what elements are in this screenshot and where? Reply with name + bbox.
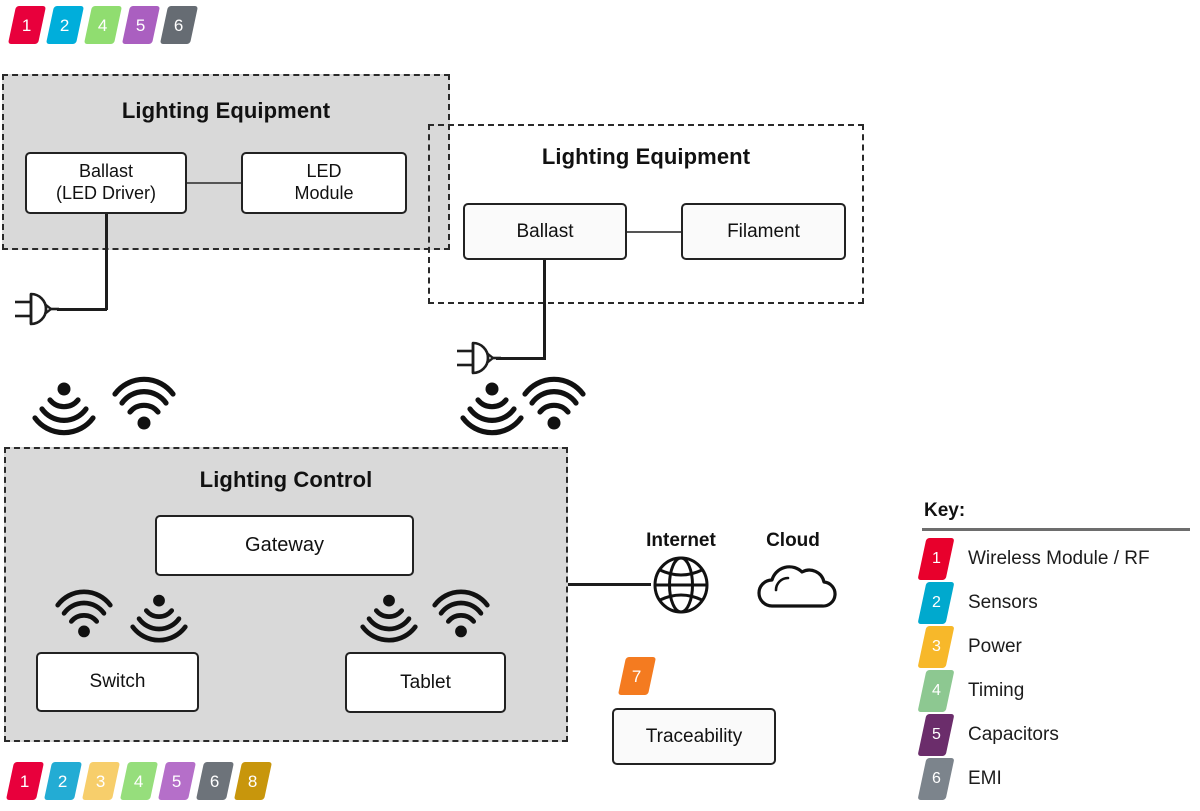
key-label-6: EMI	[968, 768, 1002, 790]
node-gateway[interactable]: Gateway	[155, 515, 414, 576]
internet-label: Internet	[628, 530, 734, 552]
key-item-3: 3Power	[922, 625, 1190, 669]
key-item-list: 1Wireless Module / RF2Sensors3Power4Timi…	[922, 537, 1190, 801]
badge-1: 1	[8, 6, 46, 44]
badge-number: 4	[98, 17, 107, 34]
badge-1: 1	[6, 762, 44, 800]
key-badge-number: 1	[932, 551, 941, 567]
filament-label: Filament	[727, 220, 800, 243]
key-item-6: 6EMI	[922, 757, 1190, 801]
badge-6: 6	[160, 6, 198, 44]
key-legend-panel: Key: 1Wireless Module / RF2Sensors3Power…	[922, 500, 1190, 801]
top-badge-row: 12456	[12, 6, 202, 44]
badge-number: 2	[58, 773, 67, 790]
power-cable-vertical-1	[105, 214, 108, 310]
node-ballast[interactable]: Ballast	[463, 203, 627, 260]
link-ballast-to-filament	[627, 231, 681, 233]
bottom-badge-row: 1234568	[10, 762, 276, 800]
badge-3: 3	[82, 762, 120, 800]
key-badge-5: 5	[918, 714, 955, 756]
key-badge-3: 3	[918, 626, 955, 668]
link-ballast-to-led-module	[187, 182, 241, 184]
power-plug-icon-2	[455, 337, 507, 379]
badge-6: 6	[196, 762, 234, 800]
lighting-equipment-1-title: Lighting Equipment	[4, 98, 448, 124]
key-badge-2: 2	[918, 582, 955, 624]
key-badge-number: 4	[932, 683, 941, 699]
key-badge-6: 6	[918, 758, 955, 800]
diagram-canvas: 12456 Lighting Equipment Ballast (LED Dr…	[0, 0, 1200, 811]
tablet-label: Tablet	[400, 671, 451, 694]
badge-7: 7	[618, 657, 656, 695]
ballast-label-line1: Ballast	[56, 161, 156, 183]
node-led-module[interactable]: LED Module	[241, 152, 407, 214]
badge-number: 5	[172, 773, 181, 790]
gateway-label: Gateway	[245, 533, 324, 557]
led-module-label-line2: Module	[294, 183, 353, 205]
key-label-3: Power	[968, 636, 1022, 658]
badge-number: 1	[20, 773, 29, 790]
led-module-label-line1: LED	[294, 161, 353, 183]
globe-icon	[650, 556, 712, 614]
node-tablet[interactable]: Tablet	[345, 652, 506, 713]
key-divider	[922, 528, 1190, 531]
ballast-2-label: Ballast	[516, 220, 573, 243]
badge-number: 3	[96, 773, 105, 790]
badge-number: 6	[210, 773, 219, 790]
wireless-signal-up-icon-2	[522, 380, 586, 432]
wireless-signal-down-icon-2	[460, 380, 524, 432]
badge-8: 8	[234, 762, 272, 800]
wireless-signal-down-icon-1	[32, 380, 96, 432]
power-cable-vertical-2	[543, 260, 546, 360]
key-label-4: Timing	[968, 680, 1024, 702]
badge-2: 2	[46, 6, 84, 44]
lighting-equipment-2-title: Lighting Equipment	[430, 144, 862, 170]
badge-number: 5	[136, 17, 145, 34]
traceability-label: Traceability	[646, 725, 742, 748]
lighting-control-title: Lighting Control	[6, 467, 566, 493]
traceability-badge: 7	[622, 657, 652, 695]
badge-5: 5	[158, 762, 196, 800]
node-ballast-led-driver[interactable]: Ballast (LED Driver)	[25, 152, 187, 214]
key-badge-number: 5	[932, 727, 941, 743]
key-item-2: 2Sensors	[922, 581, 1190, 625]
key-label-1: Wireless Module / RF	[968, 548, 1150, 570]
key-item-1: 1Wireless Module / RF	[922, 537, 1190, 581]
key-title: Key:	[924, 500, 1190, 522]
key-label-5: Capacitors	[968, 724, 1059, 746]
badge-4: 4	[120, 762, 158, 800]
badge-number: 7	[632, 668, 641, 685]
key-badge-1: 1	[918, 538, 955, 580]
key-badge-number: 3	[932, 639, 941, 655]
wireless-signal-down-icon-switch	[130, 592, 188, 640]
badge-5: 5	[122, 6, 160, 44]
key-badge-4: 4	[918, 670, 955, 712]
key-badge-number: 2	[932, 595, 941, 611]
cloud-label: Cloud	[740, 530, 846, 552]
key-item-4: 4Timing	[922, 669, 1190, 713]
node-switch[interactable]: Switch	[36, 652, 199, 712]
ballast-label-line2: (LED Driver)	[56, 183, 156, 205]
badge-4: 4	[84, 6, 122, 44]
badge-2: 2	[44, 762, 82, 800]
power-plug-icon-1	[13, 288, 65, 330]
link-control-to-internet	[568, 583, 651, 586]
node-traceability[interactable]: Traceability	[612, 708, 776, 765]
wireless-signal-up-icon-1	[112, 380, 176, 432]
key-badge-number: 6	[932, 771, 941, 787]
wireless-signal-down-icon-tablet	[360, 592, 418, 640]
badge-number: 2	[60, 17, 69, 34]
badge-number: 4	[134, 773, 143, 790]
wireless-signal-up-icon-switch	[55, 592, 113, 640]
switch-label: Switch	[90, 670, 146, 693]
badge-number: 8	[248, 773, 257, 790]
wireless-signal-up-icon-tablet	[432, 592, 490, 640]
key-item-5: 5Capacitors	[922, 713, 1190, 757]
badge-number: 1	[22, 17, 31, 34]
node-filament[interactable]: Filament	[681, 203, 846, 260]
cloud-icon	[754, 562, 838, 610]
key-label-2: Sensors	[968, 592, 1038, 614]
badge-number: 6	[174, 17, 183, 34]
